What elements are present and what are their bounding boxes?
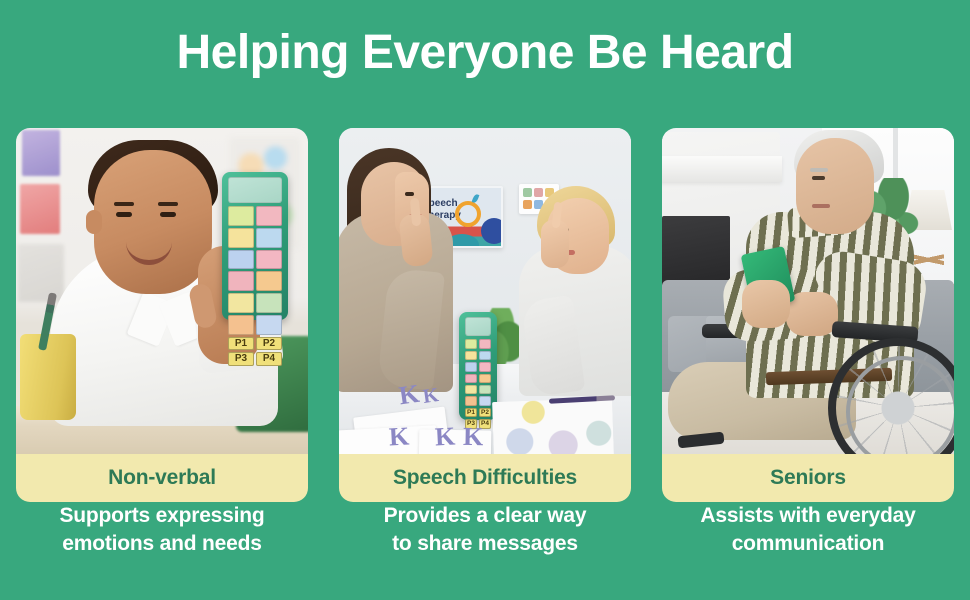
aac-key [256,271,282,291]
aac-key [256,228,282,248]
label-bar-non-verbal: Non-verbal [16,454,308,502]
aac-key [479,374,491,383]
aac-key [465,385,477,394]
senior-mouth [812,204,830,208]
aac-device-preset-keys: P1 P2 P3 P4 [225,335,285,369]
aac-key [256,315,282,335]
classroom-wall-poster-white [18,244,64,302]
caption-non-verbal: Supports expressing emotions and needs [16,502,308,557]
flashcard-letter: K [397,379,421,412]
caption-line-2: emotions and needs [16,530,308,558]
aac-key [479,396,491,405]
aac-device-screen [465,317,491,336]
aac-key [479,385,491,394]
aac-key [479,339,491,348]
poster-blue-circle [481,218,503,244]
poster-leaf-icon [472,193,480,203]
aac-preset-key-p3: P3 [228,352,254,366]
feature-card-non-verbal[interactable]: P1 P2 P3 P4 Non-verbal [16,128,308,502]
aac-key [465,339,477,348]
photo-seniors [662,128,954,454]
aac-key [256,293,282,313]
caption-line-1: Provides a clear way [339,502,631,530]
flashcard-letter: K [463,422,484,452]
feature-card-row: P1 P2 P3 P4 Non-verbal Speech Therapy [16,128,954,502]
aac-key [228,271,254,291]
aac-key [228,228,254,248]
aac-device-card1: P1 P2 P3 P4 [222,172,288,320]
senior-eyebrow [810,168,828,172]
page-title: Helping Everyone Be Heard [0,28,970,78]
aac-key [228,206,254,226]
feature-card-seniors[interactable]: Seniors [662,128,954,502]
flashcard-letter: K [388,421,410,452]
aac-key [465,351,477,360]
caption-line-1: Supports expressing [16,502,308,530]
aac-key [228,315,254,335]
feature-card-speech-difficulties[interactable]: Speech Therapy [339,128,631,502]
aac-key [465,362,477,371]
boy-eyebrow-right [158,202,178,206]
senior-head [796,138,874,234]
classroom-wall-poster-red [20,184,60,234]
aac-device-key-grid [462,339,494,405]
therapist-eye [405,192,414,196]
aac-key [256,250,282,270]
boy-eyebrow-left [114,202,134,206]
aac-key [228,250,254,270]
aac-preset-key-p1: P1 [228,337,254,351]
pencil-cup [20,334,76,420]
label-text-seniors: Seniors [770,466,846,490]
wheelchair-hand-rim [846,356,954,454]
boy-head [94,150,212,294]
aac-key [479,351,491,360]
photo-non-verbal: P1 P2 P3 P4 [16,128,308,454]
boy-eye-left [116,212,132,217]
aac-key [465,374,477,383]
caption-row: Supports expressing emotions and needs P… [16,502,954,557]
flashcard-letter: K [434,421,456,452]
picture-card-1 [523,188,532,197]
fireplace-mantel [662,156,782,182]
aac-key [256,206,282,226]
caption-line-1: Assists with everyday [662,502,954,530]
picture-card-2 [534,188,543,197]
aac-preset-key-p2: P2 [256,337,282,351]
label-text-speech-difficulties: Speech Difficulties [393,466,577,490]
classroom-wall-poster-purple [22,130,60,176]
aac-preset-key-p1: P1 [465,408,477,417]
aac-key [479,362,491,371]
aac-preset-key-p2: P2 [479,408,491,417]
caption-seniors: Assists with everyday communication [662,502,954,557]
senior-hand-left [742,280,790,328]
promotional-banner: Helping Everyone Be Heard [0,0,970,600]
aac-device-screen [228,177,282,203]
aac-key [228,293,254,313]
senior-eye [812,176,825,180]
caption-line-2: communication [662,530,954,558]
label-bar-speech-difficulties: Speech Difficulties [339,454,631,502]
aac-preset-key-p4: P4 [256,352,282,366]
caption-line-2: to share messages [339,530,631,558]
picture-card-4 [523,200,532,209]
aac-key [465,396,477,405]
label-bar-seniors: Seniors [662,454,954,502]
boy-ear [86,210,102,234]
poster-orange-logo-icon [455,201,481,227]
aac-device-key-grid [225,206,285,335]
photo-speech-difficulties: Speech Therapy [339,128,631,454]
boy-eye-right [160,212,176,217]
flashcard-letter: K [421,384,440,409]
label-text-non-verbal: Non-verbal [108,466,216,490]
activity-worksheet [492,398,614,454]
caption-speech-difficulties: Provides a clear way to share messages [339,502,631,557]
